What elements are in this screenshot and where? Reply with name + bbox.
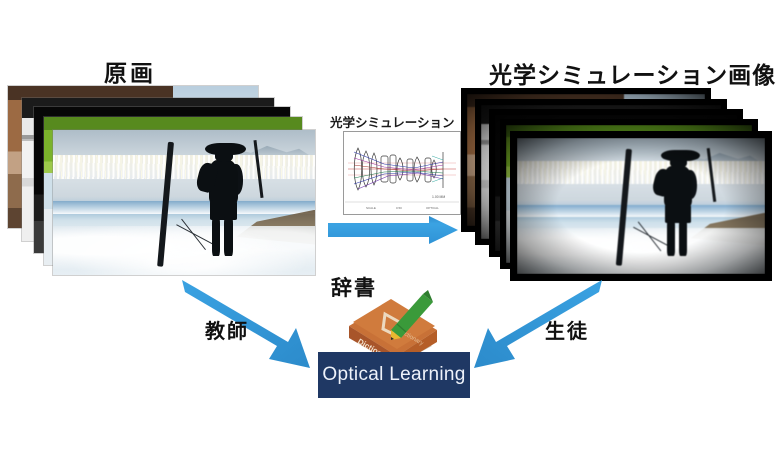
- photo-foam: [53, 226, 315, 275]
- photo-beach-fisherman: [53, 130, 315, 275]
- raytrace-caption-mid: 0.50: [396, 206, 402, 210]
- photo-fisherman-silhouette: [197, 143, 249, 262]
- stack-layer-beach-front: [53, 130, 315, 275]
- sim-fisherman-silhouette: [653, 150, 703, 262]
- sim-foam: [517, 228, 765, 274]
- photo-surf-line: [53, 201, 315, 214]
- figure-canvas: 光学シミュレーション: [0, 0, 780, 460]
- arrow-teacher: [176, 278, 326, 374]
- raytrace-svg: 1.00 MM SCALE 0.50 OPTICAL: [344, 132, 460, 214]
- raytrace-caption-left: SCALE: [366, 206, 376, 210]
- sim-silhouette-leg-right: [679, 219, 687, 256]
- photo-green-band: [44, 117, 302, 130]
- raytrace-caption-right: OPTICAL: [426, 206, 439, 210]
- simulated-images-title: 光学シミュレーション画像: [489, 56, 776, 90]
- sim-silhouette-hat: [661, 150, 700, 161]
- sim-sun-glitter: [517, 161, 765, 184]
- dictionary-label: 辞書: [331, 272, 377, 302]
- original-images-title: 原画: [104, 54, 156, 88]
- optical-learning-banner[interactable]: Optical Learning: [318, 352, 470, 398]
- optical-learning-text: Optical Learning: [322, 364, 465, 386]
- sim-silhouette-leg-left: [667, 219, 675, 256]
- teacher-label: 教師: [205, 315, 249, 344]
- photo-sun-glitter: [53, 155, 315, 180]
- sim-layer-beach-front: [510, 131, 772, 281]
- lens-raytrace-diagram: 1.00 MM SCALE 0.50 OPTICAL: [343, 131, 461, 215]
- silhouette-leg-left: [212, 217, 220, 256]
- sim-inner-5: [517, 138, 765, 274]
- student-label: 生徒: [545, 315, 589, 344]
- optical-simulation-label: 光学シミュレーション: [330, 112, 455, 131]
- sim-surf-line: [517, 205, 765, 217]
- silhouette-leg-right: [224, 217, 232, 256]
- raytrace-scale-text: 1.00 MM: [432, 195, 445, 199]
- sim-photo-beach-fisherman: [517, 138, 765, 274]
- arrow-original-to-simulated: [328, 216, 464, 246]
- silhouette-hat: [205, 143, 246, 155]
